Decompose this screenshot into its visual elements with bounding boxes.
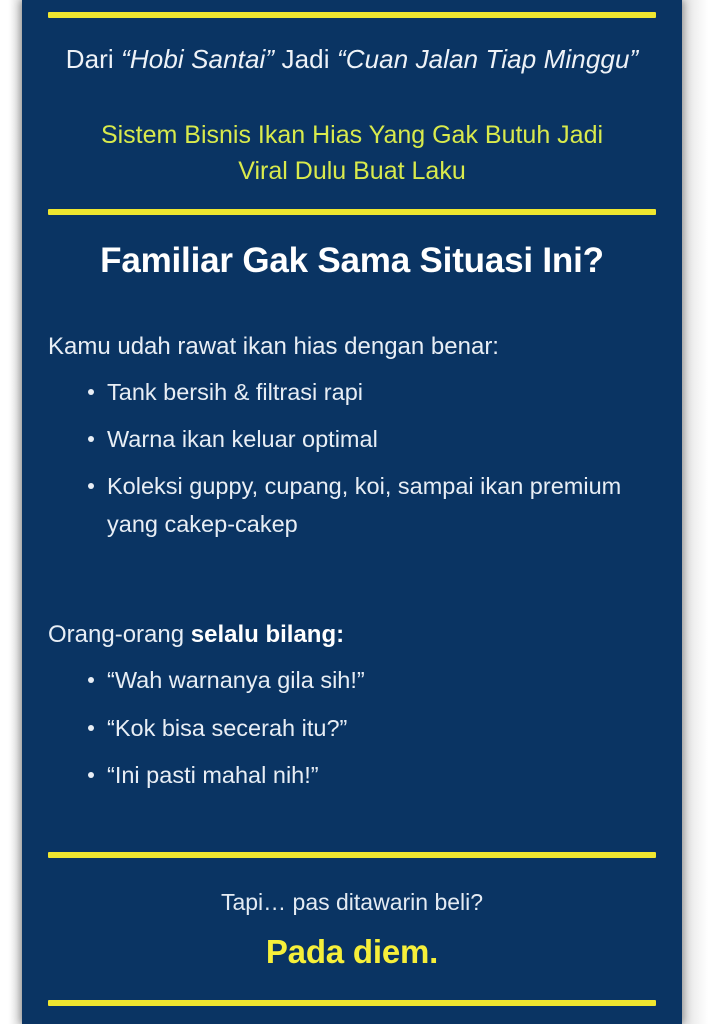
eyebrow-part2: Jadi [274, 44, 337, 74]
section2-lead-bold: selalu bilang: [191, 621, 344, 648]
page-title: Familiar Gak Sama Situasi Ini? [48, 241, 656, 281]
list-item: “Kok bisa secerah itu?” [86, 709, 656, 747]
eyebrow-quote-hobi-santai: “Hobi Santai” [121, 44, 274, 74]
section1-lead: Kamu udah rawat ikan hias dengan benar: [48, 330, 656, 363]
body-content: Kamu udah rawat ikan hias dengan benar: … [48, 330, 656, 803]
eyebrow-text: Dari “Hobi Santai” Jadi “Cuan Jalan Tiap… [48, 42, 656, 77]
divider-middle [48, 209, 656, 215]
list-item: Tank bersih & filtrasi rapi [86, 373, 656, 411]
divider-top [48, 12, 656, 18]
section2-bullet-list: “Wah warnanya gila sih!” “Kok bisa secer… [48, 661, 656, 793]
list-item: Koleksi guppy, cupang, koi, sampai ikan … [86, 467, 656, 543]
footer-question: Tapi… pas ditawarin beli? [48, 888, 656, 918]
subheadline: Sistem Bisnis Ikan Hias Yang Gak Butuh J… [76, 118, 628, 189]
section2-lead: Orang-orang selalu bilang: [48, 618, 656, 651]
eyebrow-part1: Dari [66, 44, 121, 74]
divider-footer-bottom [48, 1000, 656, 1006]
eyebrow-quote-cuan-jalan: “Cuan Jalan Tiap Minggu” [337, 44, 638, 74]
list-item: “Ini pasti mahal nih!” [86, 756, 656, 794]
list-item: Warna ikan keluar optimal [86, 420, 656, 458]
section1-bullet-list: Tank bersih & filtrasi rapi Warna ikan k… [48, 373, 656, 543]
footer-block: Tapi… pas ditawarin beli? Pada diem. [48, 888, 656, 971]
footer-punchline: Pada diem. [48, 932, 656, 972]
page-background: Dari “Hobi Santai” Jadi “Cuan Jalan Tiap… [0, 0, 708, 1024]
section2-lead-regular: Orang-orang [48, 621, 191, 648]
promo-card: Dari “Hobi Santai” Jadi “Cuan Jalan Tiap… [22, 0, 682, 1024]
section-spacer [48, 552, 656, 618]
divider-footer-top [48, 852, 656, 858]
list-item: “Wah warnanya gila sih!” [86, 661, 656, 699]
